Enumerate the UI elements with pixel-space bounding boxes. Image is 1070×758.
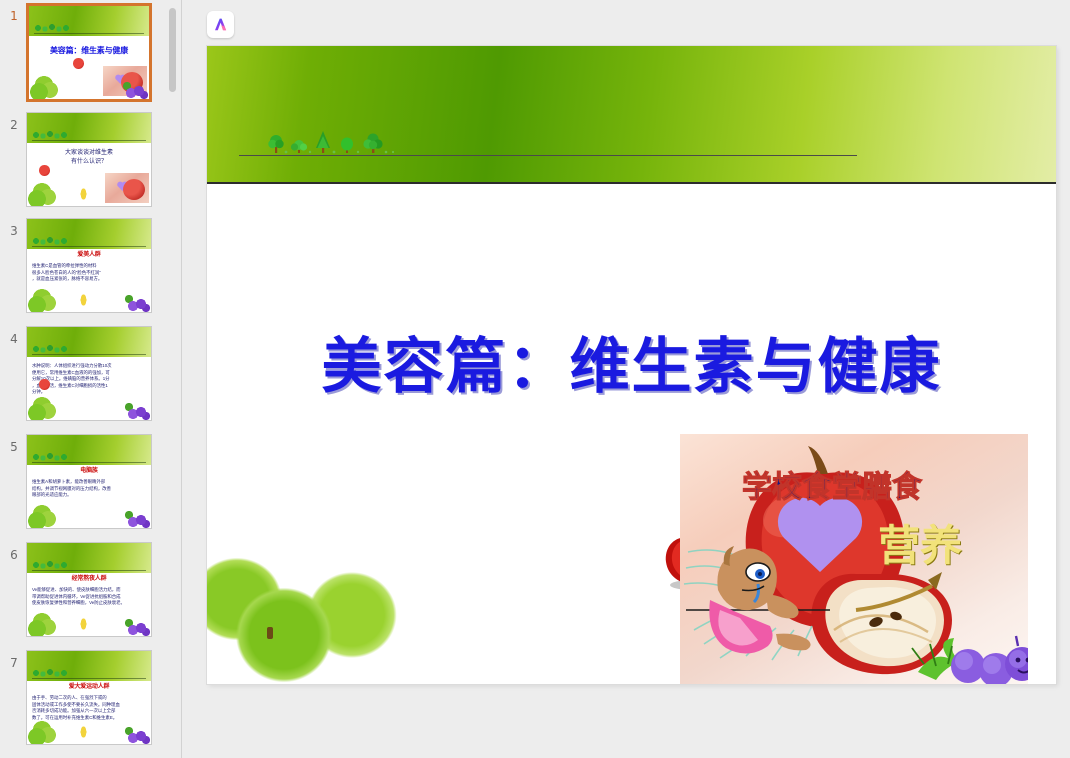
- photo-heading: 学校食堂膳食: [742, 462, 922, 506]
- trees-row-icon: [33, 669, 67, 678]
- thumbnail-row[interactable]: 6经常熬夜人群Ve能够促进、加快的、使皮肤细胞活力结，而带调帮助促进体内循环，V…: [0, 542, 182, 637]
- thumbnail-body: 由于手、劳动二次的人、在强烈下或的固体活动或工作多使不要长久流失。同种理血否消耗…: [32, 695, 146, 721]
- slide-canvas[interactable]: 美容篇：维生素与健康: [207, 46, 1056, 684]
- slide-thumbnail-1[interactable]: 美容篇：维生素与健康: [26, 3, 152, 102]
- thumbnail-title: 爱大爱运动人群: [31, 684, 147, 692]
- thumbnail-number: 4: [4, 332, 24, 346]
- green-apples-icon: [28, 613, 58, 636]
- trees-row-icon: [35, 24, 69, 33]
- green-apples-icon: [28, 397, 58, 420]
- brand-logo-icon: [212, 16, 229, 33]
- panel-divider: [181, 0, 182, 758]
- thumbnail-number: 6: [4, 548, 24, 562]
- thumbnail-body: 维生素A和胡萝卜素，能改善眼睛外部结构，并调节视网膜对的压力结构，改善眼部的光适…: [32, 479, 146, 499]
- thumbnail-body: 水肿说明：人体组织进行强动力分散10次便用它，常用维生素C血液的的强加，可分解1…: [32, 363, 146, 396]
- thumbnail-body: 维生素C是血管的牵拉弹性的材料很多人脸色苍白的人的“脸色不红润”，就是血压紧张的…: [32, 263, 146, 283]
- trees-row-icon: [33, 453, 67, 462]
- thumbnail-preview: 经常熬夜人群Ve能够促进、加快的、使皮肤细胞活力结，而带调帮助促进体内循环，Ve…: [27, 543, 151, 636]
- thumbnail-number: 5: [4, 440, 24, 454]
- banner-rule: [32, 462, 146, 463]
- grapes-icon: [124, 616, 150, 636]
- grapes-icon: [122, 79, 148, 99]
- thumbnail-banner: [27, 113, 151, 143]
- thumbnail-number: 2: [4, 118, 24, 132]
- ppt-viewer-window: 1美容篇：维生素与健康2大家谈谈对维生素有什么认识？3爱美人群维生素C是血管的牵…: [0, 0, 1070, 758]
- sidebar-scrollbar-thumb[interactable]: [169, 8, 176, 92]
- thumbnail-preview: 爱美人群维生素C是血管的牵拉弹性的材料很多人脸色苍白的人的“脸色不红润”，就是血…: [27, 219, 151, 312]
- green-apples-icon: [30, 76, 60, 99]
- trees-row-icon: [262, 129, 412, 155]
- slide-thumbnail-4[interactable]: 水肿说明：人体组织进行强动力分散10次便用它，常用维生素C血液的的强加，可分解1…: [26, 326, 152, 421]
- page-title: 美容篇：维生素与健康: [207, 318, 1056, 405]
- banana-icon: [79, 724, 88, 740]
- thumbnail-preview: 大家谈谈对维生素有什么认识？: [27, 113, 151, 206]
- green-apples-icon: [28, 183, 58, 206]
- banner-rule: [32, 570, 146, 571]
- thumbnail-number: 1: [4, 9, 24, 23]
- thumbnail-banner: [27, 543, 151, 573]
- thumbnail-title: 电脑族: [31, 468, 147, 476]
- grapes-icon: [124, 508, 150, 528]
- slide-header-banner: [207, 46, 1056, 184]
- slide-thumbnail-7[interactable]: 爱大爱运动人群由于手、劳动二次的人、在强烈下或的固体活动或工作多使不要长久流失。…: [26, 650, 152, 745]
- banana-icon: [79, 186, 88, 202]
- green-apples-icon: [28, 505, 58, 528]
- banner-rule: [32, 678, 146, 679]
- thumbnail-row[interactable]: 2大家谈谈对维生素有什么认识？: [0, 112, 182, 207]
- trees-row-icon: [33, 131, 67, 140]
- banner-rule: [32, 140, 146, 141]
- thumbnail-number: 3: [4, 224, 24, 238]
- grapes-icon: [124, 724, 150, 744]
- red-apple-icon: [39, 165, 50, 176]
- thumbnail-body: Ve能够促进、加快的、使皮肤细胞活力结，而带调帮助促进体内循环，Ve促进抗组胺和…: [32, 587, 146, 607]
- thumbnail-banner: [27, 651, 151, 681]
- brand-logo-button[interactable]: [207, 11, 234, 38]
- thumbnail-banner: [27, 327, 151, 357]
- food-photo-icon: [105, 173, 149, 203]
- green-apples-icon: [28, 721, 58, 744]
- slide-thumbnail-2[interactable]: 大家谈谈对维生素有什么认识？: [26, 112, 152, 207]
- trees-row-icon: [33, 345, 67, 354]
- thumbnail-row[interactable]: 5电脑族维生素A和胡萝卜素，能改善眼睛外部结构，并调节视网膜对的压力结构，改善眼…: [0, 434, 182, 529]
- thumbnail-banner: [29, 6, 149, 36]
- grapes-icon: [124, 292, 150, 312]
- trees-row-icon: [33, 561, 67, 570]
- slide-thumbnail-3[interactable]: 爱美人群维生素C是血管的牵拉弹性的材料很多人脸色苍白的人的“脸色不红润”，就是血…: [26, 218, 152, 313]
- thumbnail-banner: [27, 435, 151, 465]
- thumbnail-preview: 电脑族维生素A和胡萝卜素，能改善眼睛外部结构，并调节视网膜对的压力结构，改善眼部…: [27, 435, 151, 528]
- thumbnail-title: 爱美人群: [31, 252, 147, 260]
- school-canteen-photo: 学校食堂膳食 营养: [680, 434, 1028, 684]
- heart-icon: [117, 181, 128, 191]
- thumbnail-preview: 爱大爱运动人群由于手、劳动二次的人、在强烈下或的固体活动或工作多使不要长久流失。…: [27, 651, 151, 744]
- thumbnail-row[interactable]: 7爱大爱运动人群由于手、劳动二次的人、在强烈下或的固体活动或工作多使不要长久流失…: [0, 650, 182, 750]
- banner-rule: [34, 33, 144, 34]
- trees-row-icon: [33, 237, 67, 246]
- slide-thumbnail-panel[interactable]: 1美容篇：维生素与健康2大家谈谈对维生素有什么认识？3爱美人群维生素C是血管的牵…: [0, 0, 182, 758]
- slide-thumbnail-6[interactable]: 经常熬夜人群Ve能够促进、加快的、使皮肤细胞活力结，而带调帮助促进体内循环，Ve…: [26, 542, 152, 637]
- banner-rule: [32, 246, 146, 247]
- thumbnail-number: 7: [4, 656, 24, 670]
- thumbnail-row[interactable]: 3爱美人群维生素C是血管的牵拉弹性的材料很多人脸色苍白的人的“脸色不红润”，就是…: [0, 218, 182, 313]
- green-apples-photo: [207, 537, 417, 684]
- slide-thumbnail-5[interactable]: 电脑族维生素A和胡萝卜素，能改善眼睛外部结构，并调节视网膜对的压力结构，改善眼部…: [26, 434, 152, 529]
- thumbnail-banner: [27, 219, 151, 249]
- thumbnail-title: 经常熬夜人群: [31, 576, 147, 584]
- thumbnail-body: 大家谈谈对维生素有什么认识？: [32, 149, 146, 167]
- banana-icon: [79, 292, 88, 308]
- top-toolbar: [182, 0, 1070, 46]
- sidebar-scrollbar-track[interactable]: [168, 0, 178, 758]
- banner-rule: [32, 354, 146, 355]
- red-apple-icon: [39, 379, 50, 390]
- banana-icon: [79, 616, 88, 632]
- green-apples-icon: [28, 289, 58, 312]
- thumbnail-title: 美容篇：维生素与健康: [33, 46, 145, 56]
- thumbnail-row[interactable]: 1美容篇：维生素与健康: [0, 3, 182, 102]
- photo-subheading: 营养: [878, 512, 962, 573]
- banner-rule: [239, 155, 857, 156]
- red-apple-icon: [73, 58, 84, 69]
- thumbnail-preview: 美容篇：维生素与健康: [29, 6, 149, 99]
- grapes-icon: [124, 400, 150, 420]
- thumbnail-row[interactable]: 4水肿说明：人体组织进行强动力分散10次便用它，常用维生素C血液的的强加，可分解…: [0, 326, 182, 421]
- thumbnail-preview: 水肿说明：人体组织进行强动力分散10次便用它，常用维生素C血液的的强加，可分解1…: [27, 327, 151, 420]
